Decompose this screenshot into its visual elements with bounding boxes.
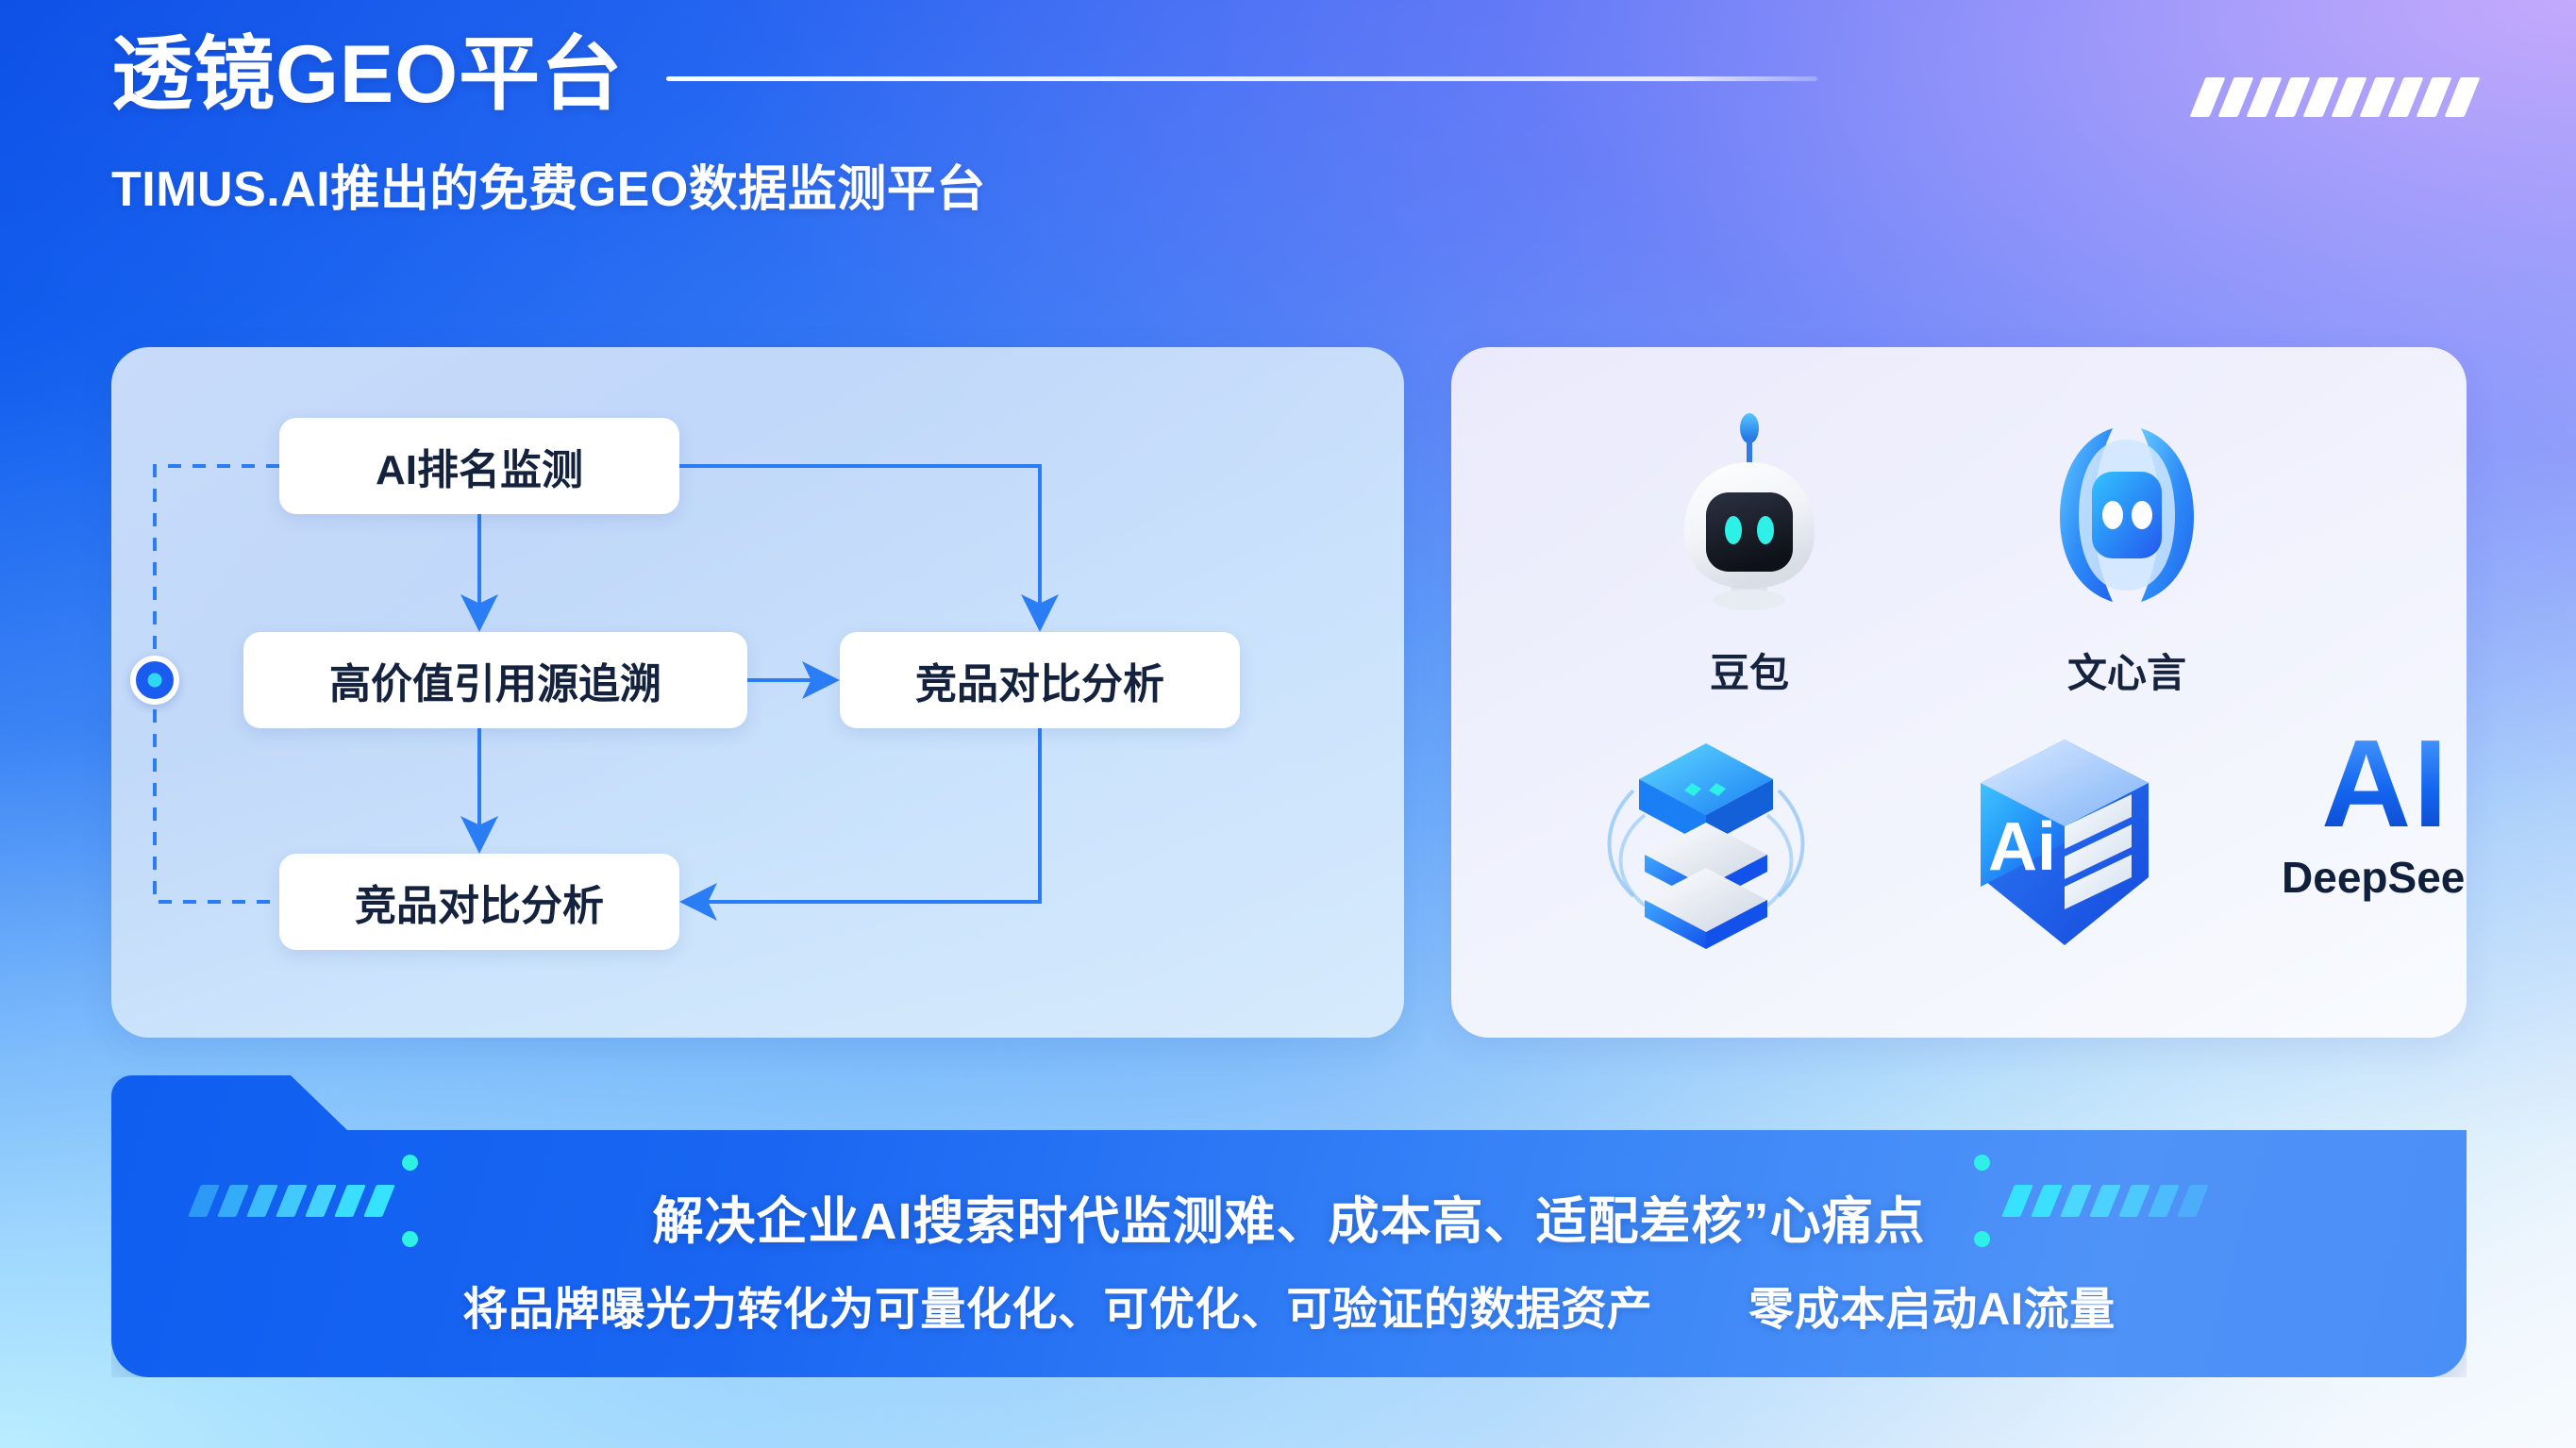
header-stripes-decoration <box>2190 77 2481 117</box>
title-divider <box>666 76 1817 81</box>
ai-platforms-panel: 豆包 文心言 <box>1451 347 2467 1038</box>
flow-node-label: AI排名监测 <box>376 436 583 496</box>
page-header: 透镜GEO平台 TIMUS.AI推出的免费GEO数据监测平台 <box>111 34 2472 251</box>
flow-node-label: 竞品对比分析 <box>915 650 1164 710</box>
wenxinyiyan-icon <box>2018 406 2235 623</box>
flow-node-label: 高价值引用源追溯 <box>329 650 661 710</box>
banner-subline-part1: 将品牌曝光力转化为可量化化、可优化、可验证的数据资产 <box>462 1285 1652 1335</box>
ai-platform-logo-grid: 豆包 文心言 <box>1451 347 2467 1038</box>
ai-cube-icon: Ai <box>1947 724 2183 960</box>
flow-node-label: 竞品对比分析 <box>355 872 604 932</box>
flow-node-competitor-analysis-right[interactable]: 竞品对比分析 <box>840 632 1240 728</box>
ai-platform-label: 豆包 <box>1710 641 1789 699</box>
edge-competitor-right-to-bottom <box>691 728 1040 902</box>
flowchart-panel: AI排名监测 高价值引用源追溯 竞品对比分析 竞品对比分析 <box>111 347 1404 1038</box>
flow-node-high-value-citation-source[interactable]: 高价值引用源追溯 <box>243 632 747 728</box>
start-node-dot[interactable] <box>130 656 179 705</box>
flow-node-competitor-analysis-bottom[interactable]: 竞品对比分析 <box>279 854 679 950</box>
title-row: 透镜GEO平台 <box>111 34 2472 115</box>
doubao-robot-icon <box>1641 406 1858 623</box>
page-subtitle: TIMUS.AI推出的免费GEO数据监测平台 <box>111 149 2472 220</box>
banner-subline: 将品牌曝光力转化为可量化化、可优化、可验证的数据资产 零成本启动AI流量 <box>111 1272 2467 1338</box>
flow-node-ai-ranking-monitor[interactable]: AI排名监测 <box>279 418 679 514</box>
banner-headline: 解决企业AI搜索时代监测难、成本高、适配差核”心痛点 <box>111 1179 2467 1254</box>
edge-rank-to-competitor-right <box>679 466 1040 621</box>
ai-platform-item-doubao[interactable]: 豆包 <box>1608 406 1891 699</box>
bottom-banner: 解决企业AI搜索时代监测难、成本高、适配差核”心痛点 将品牌曝光力转化为可量化化… <box>111 1075 2467 1377</box>
flowchart: AI排名监测 高价值引用源追溯 竞品对比分析 竞品对比分析 <box>111 347 1404 1038</box>
ai-platform-item-ai-cube[interactable]: Ai <box>1923 724 2206 960</box>
ai-platform-item-wenxinyiyan[interactable]: 文心言 <box>1985 406 2268 699</box>
ai-platform-item-deepseek[interactable]: AI DeepSeek <box>2244 724 2467 903</box>
deepseek-ai-mark: AI <box>2321 724 2450 842</box>
ai-platform-label: 文心言 <box>2067 641 2186 699</box>
ai-platform-label: DeepSeek <box>2282 852 2467 903</box>
ai-platform-item-stacked-cube[interactable] <box>1564 724 1848 960</box>
stacked-cube-icon <box>1588 724 1824 960</box>
svg-text:Ai: Ai <box>1988 809 2056 885</box>
page-title: 透镜GEO平台 <box>111 34 623 115</box>
banner-subline-part2: 零成本启动AI流量 <box>1748 1285 2116 1335</box>
